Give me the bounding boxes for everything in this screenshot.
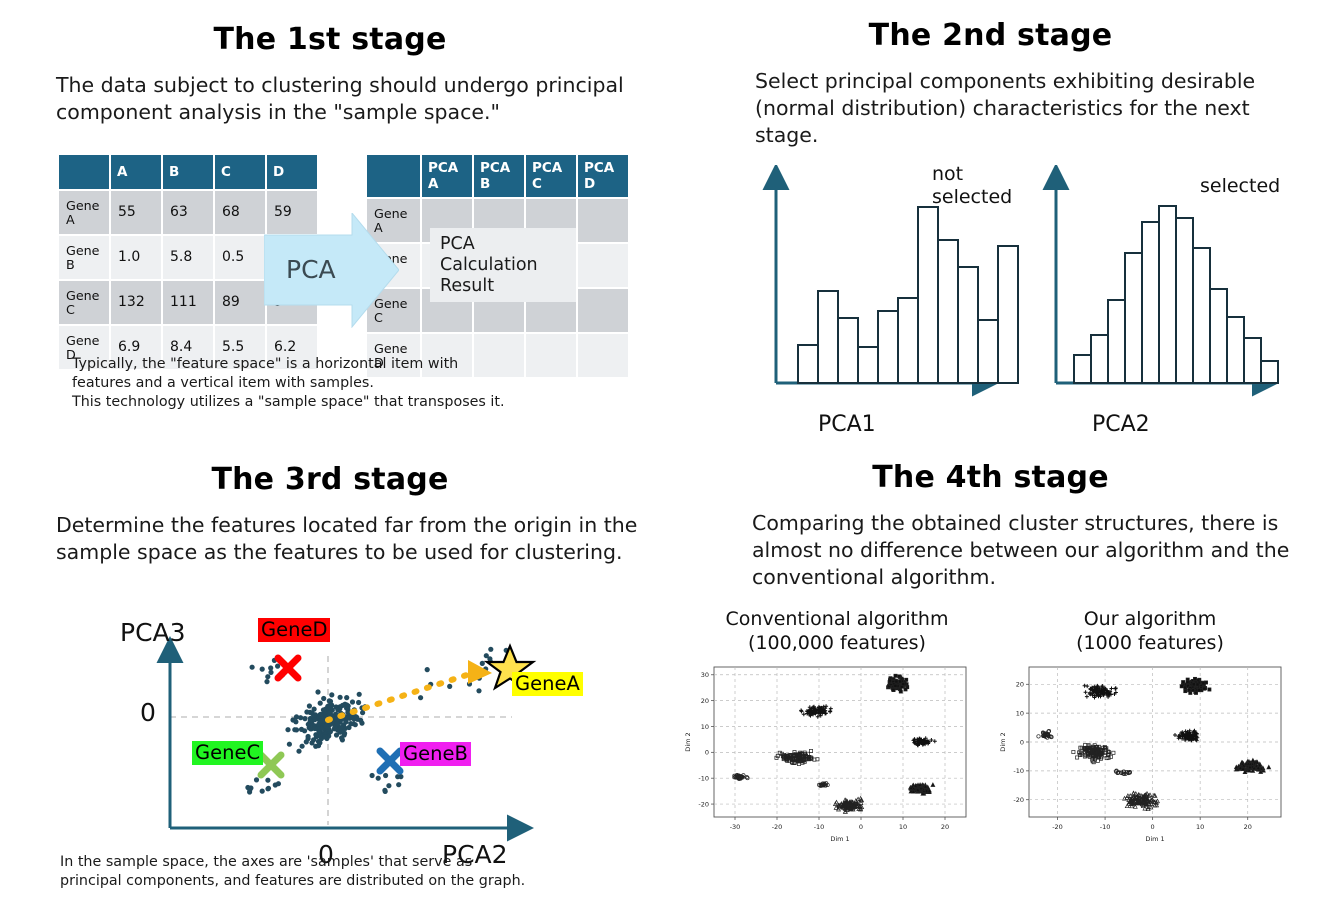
stage-1-note: Typically, the "feature space" is a hori…: [72, 355, 632, 412]
histogram-not-selected: not selected: [760, 165, 1025, 400]
stage-4-description: Comparing the obtained cluster structure…: [752, 510, 1297, 591]
stage-3-title: The 3rd stage: [0, 462, 660, 497]
overlay-line-2: Calculation: [440, 255, 576, 276]
svg-text:0: 0: [705, 749, 709, 757]
row-label-gene-c: GeneC: [59, 281, 109, 324]
stage-4-description-text: Comparing the obtained cluster structure…: [752, 511, 1289, 589]
svg-text:20: 20: [941, 823, 949, 831]
cluster-plot-ours: -20-1001020-20-1001020Dim 1Dim 2: [995, 655, 1295, 850]
col-header-c: C: [215, 155, 265, 189]
stage-2-description-text: Select principal components exhibiting d…: [755, 69, 1255, 147]
table-corner-cell: [59, 155, 109, 189]
histogram-not-selected-label: not selected: [932, 163, 1012, 209]
stage-1-title: The 1st stage: [0, 22, 660, 57]
genec-marker: [261, 755, 281, 775]
cell: 132: [111, 281, 161, 324]
svg-text:-10: -10: [1100, 823, 1111, 831]
label-line-1: not: [932, 163, 1012, 186]
pca-calculation-result-overlay: PCA Calculation Result: [430, 228, 576, 302]
stage-4-title: The 4th stage: [660, 460, 1321, 495]
svg-text:30: 30: [701, 671, 709, 679]
overlay-line-1: PCA: [440, 234, 576, 255]
table-header-row: PCAA PCAB PCAC PCAD: [367, 155, 628, 197]
col-header-pca-c: PCAC: [526, 155, 576, 197]
svg-text:-10: -10: [814, 823, 825, 831]
histogram-selected-label: selected: [1200, 175, 1280, 198]
caption-line-2: (100,000 features): [682, 632, 992, 656]
cluster-plot-conventional: -30-20-1001020-20-100102030Dim 1Dim 2: [680, 655, 980, 850]
cell: 5.8: [163, 236, 213, 279]
overlay-line-3: Result: [440, 276, 576, 297]
col-header-a: A: [111, 155, 161, 189]
svg-text:10: 10: [1196, 823, 1204, 831]
note-line-2: principal components, and features are d…: [60, 872, 650, 891]
gene-b-tag: GeneB: [400, 742, 471, 766]
stage-3-note: In the sample space, the axes are 'sampl…: [60, 853, 650, 891]
note-line-3: This technology utilizes a "sample space…: [72, 393, 632, 412]
gene-c-tag: GeneC: [192, 741, 263, 765]
cell: 111: [163, 281, 213, 324]
pca-arrow-label: PCA: [286, 255, 336, 284]
svg-text:-30: -30: [730, 823, 741, 831]
caption-line-1: Our algorithm: [1000, 608, 1300, 632]
svg-text:20: 20: [1016, 681, 1024, 689]
row-label-gene-b: GeneB: [59, 236, 109, 279]
stage-3-description: Determine the features located far from …: [56, 512, 646, 566]
geneb-marker: [380, 751, 400, 771]
svg-text:Dim 2: Dim 2: [999, 732, 1007, 751]
col-header-pca-d: PCAD: [578, 155, 628, 197]
svg-text:0: 0: [1151, 823, 1155, 831]
svg-text:10: 10: [701, 723, 709, 731]
stage-1-panel: The 1st stage The data subject to cluste…: [0, 0, 660, 430]
svg-text:10: 10: [899, 823, 907, 831]
stage-2-title: The 2nd stage: [660, 18, 1321, 53]
col-header-d: D: [267, 155, 317, 189]
stage-3-panel: The 3rd stage Determine the features loc…: [0, 450, 660, 912]
histogram-selected: selected: [1040, 165, 1310, 400]
col-header-pca-b: PCAB: [474, 155, 524, 197]
svg-text:-20: -20: [1052, 823, 1063, 831]
histogram-selected-xlabel: PCA2: [1092, 412, 1150, 437]
cell: [578, 289, 628, 332]
cell: 0.5: [215, 236, 265, 279]
scatter-y-origin-label: 0: [140, 698, 156, 727]
note-line-1: In the sample space, the axes are 'sampl…: [60, 853, 650, 872]
cell: [578, 199, 628, 242]
stage-4-panel: The 4th stage Comparing the obtained clu…: [660, 450, 1321, 912]
stage-3-description-text: Determine the features located far from …: [56, 513, 637, 564]
row-label-gene-a: GeneA: [59, 191, 109, 234]
stage-1-description: The data subject to clustering should un…: [56, 72, 636, 126]
gene-d-tag: GeneD: [258, 618, 330, 642]
stage-2-description: Select principal components exhibiting d…: [755, 68, 1275, 149]
stage-1-description-text: The data subject to clustering should un…: [56, 73, 624, 124]
cell: [578, 244, 628, 287]
col-header-b: B: [163, 155, 213, 189]
stage-2-panel: The 2nd stage Select principal component…: [660, 0, 1321, 450]
col-header-pca-a: PCAA: [422, 155, 472, 197]
svg-text:20: 20: [1244, 823, 1252, 831]
svg-text:20: 20: [701, 697, 709, 705]
scatter-y-axis-label: PCA3: [120, 618, 186, 647]
our-algorithm-caption: Our algorithm (1000 features): [1000, 608, 1300, 656]
svg-text:Dim 1: Dim 1: [1145, 835, 1164, 843]
cell: 68: [215, 191, 265, 234]
svg-text:-20: -20: [1013, 796, 1024, 804]
caption-line-2: (1000 features): [1000, 632, 1300, 656]
svg-text:Dim 2: Dim 2: [684, 732, 692, 751]
pca-arrow-icon: PCA: [264, 213, 399, 328]
table-header-row: A B C D: [59, 155, 317, 189]
svg-text:-20: -20: [772, 823, 783, 831]
cell: 89: [215, 281, 265, 324]
cell: 1.0: [111, 236, 161, 279]
svg-text:0: 0: [859, 823, 863, 831]
svg-text:0: 0: [1020, 738, 1024, 746]
caption-line-1: Conventional algorithm: [682, 608, 992, 632]
cell: 55: [111, 191, 161, 234]
svg-text:10: 10: [1016, 710, 1024, 718]
histogram-not-selected-xlabel: PCA1: [818, 412, 876, 437]
svg-text:Dim 1: Dim 1: [830, 835, 849, 843]
note-line-2: features and a vertical item with sample…: [72, 374, 632, 393]
table-corner-cell: [367, 155, 420, 197]
gened-marker: [278, 658, 298, 678]
svg-text:-10: -10: [698, 775, 709, 783]
svg-text:-10: -10: [1013, 767, 1024, 775]
svg-text:-20: -20: [698, 800, 709, 808]
cell: 63: [163, 191, 213, 234]
note-line-1: Typically, the "feature space" is a hori…: [72, 355, 632, 374]
gene-a-tag: GeneA: [512, 672, 583, 696]
label-line-2: selected: [932, 186, 1012, 209]
conventional-algorithm-caption: Conventional algorithm (100,000 features…: [682, 608, 992, 656]
